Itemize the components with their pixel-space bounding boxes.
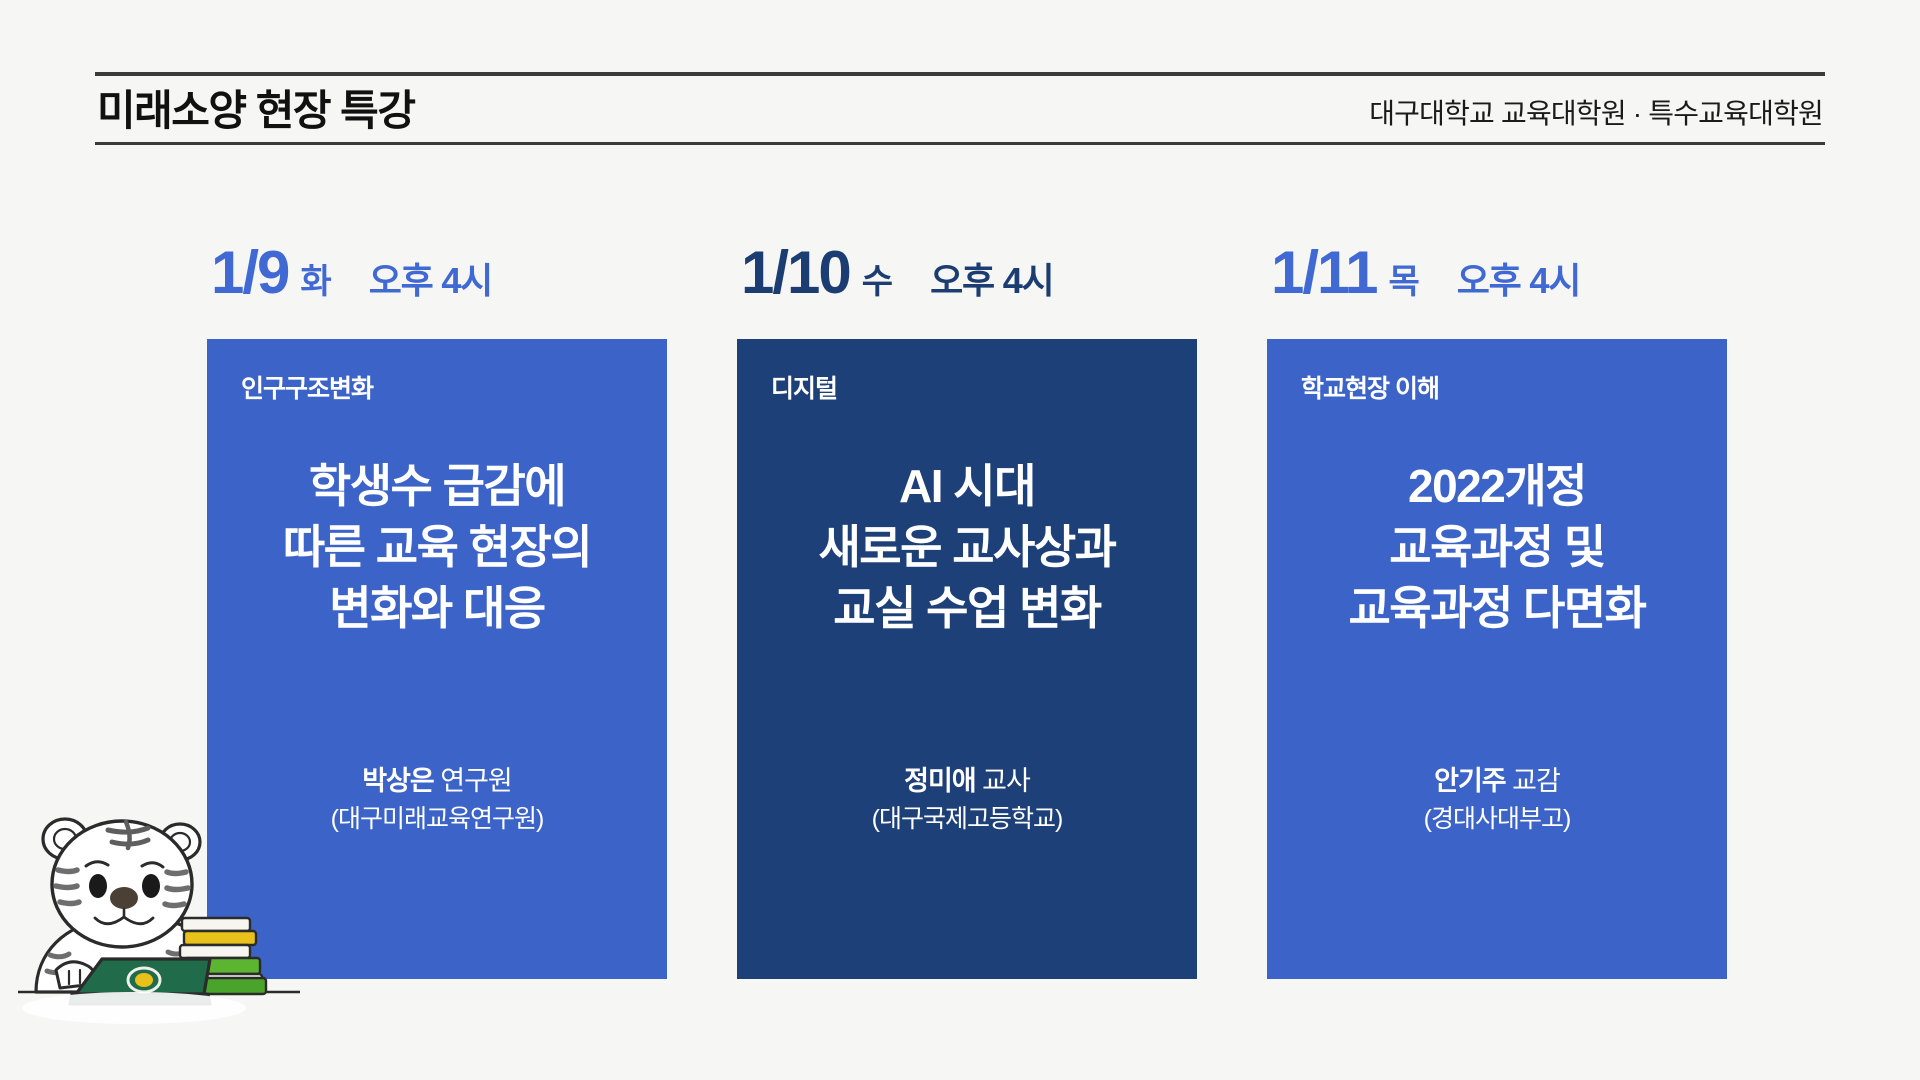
speaker-role-2: 교사 <box>982 766 1030 796</box>
session-tag-2: 디지털 <box>771 377 1171 402</box>
speaker-name-row-2: 정미애 교사 <box>763 763 1171 799</box>
white-tiger-mascot-illustration <box>14 792 304 1032</box>
session-date-row-3: 1/11 목 오후 4시 <box>1267 243 1727 339</box>
session-weekday-2: 수 <box>862 265 892 299</box>
speaker-affiliation-2: (대구국제고등학교) <box>763 803 1171 837</box>
session-date-3: 1/11 <box>1271 243 1376 303</box>
session-title-1: 학생수 급감에 따른 교육 현장의 변화와 대응 <box>233 456 641 640</box>
session-speaker-2: 정미애 교사 (대구국제고등학교) <box>763 763 1171 837</box>
organization-label: 대구대학교 교육대학원 · 특수교육대학원 <box>1369 100 1823 132</box>
session-weekday-1: 화 <box>300 265 330 299</box>
speaker-name-2: 정미애 <box>904 766 976 796</box>
session-card-2[interactable]: 디지털 AI 시대 새로운 교사상과 교실 수업 변화 정미애 교사 (대구국제… <box>737 339 1197 979</box>
session-time-2: 오후 4시 <box>930 263 1053 299</box>
session-date-row-1: 1/9 화 오후 4시 <box>207 243 667 339</box>
card-spacer-1 <box>233 640 641 763</box>
session-date-row-2: 1/10 수 오후 4시 <box>737 243 1197 339</box>
header-bottom-rule <box>95 142 1825 145</box>
header-row: 미래소양 현장 특강 대구대학교 교육대학원 · 특수교육대학원 <box>95 76 1825 142</box>
session-card-3[interactable]: 학교현장 이해 2022개정 교육과정 및 교육과정 다면화 안기주 교감 (경… <box>1267 339 1727 979</box>
poster-header: 미래소양 현장 특강 대구대학교 교육대학원 · 특수교육대학원 <box>95 72 1825 145</box>
session-title-3: 2022개정 교육과정 및 교육과정 다면화 <box>1293 456 1701 640</box>
session-weekday-3: 목 <box>1388 265 1418 299</box>
session-time-3: 오후 4시 <box>1457 263 1580 299</box>
session-date-2: 1/10 <box>741 243 850 303</box>
session-speaker-3: 안기주 교감 (경대사대부고) <box>1293 763 1701 837</box>
speaker-name-1: 박상은 <box>362 766 434 796</box>
session-title-2: AI 시대 새로운 교사상과 교실 수업 변화 <box>763 456 1171 640</box>
session-card-list: 1/9 화 오후 4시 인구구조변화 학생수 급감에 따른 교육 현장의 변화와… <box>207 243 1727 979</box>
session-tag-3: 학교현장 이해 <box>1301 377 1701 402</box>
session-time-1: 오후 4시 <box>369 263 492 299</box>
card-spacer-3 <box>1293 640 1701 763</box>
card-spacer-2 <box>763 640 1171 763</box>
speaker-name-row-3: 안기주 교감 <box>1293 763 1701 799</box>
speaker-name-3: 안기주 <box>1434 766 1506 796</box>
session-date-1: 1/9 <box>211 243 288 303</box>
speaker-affiliation-3: (경대사대부고) <box>1293 803 1701 837</box>
session-column-3: 1/11 목 오후 4시 학교현장 이해 2022개정 교육과정 및 교육과정 … <box>1267 243 1727 979</box>
page-title: 미래소양 현장 특강 <box>97 90 414 132</box>
session-column-2: 1/10 수 오후 4시 디지털 AI 시대 새로운 교사상과 교실 수업 변화… <box>737 243 1197 979</box>
speaker-role-1: 연구원 <box>440 766 512 796</box>
speaker-role-3: 교감 <box>1512 766 1560 796</box>
session-tag-1: 인구구조변화 <box>241 377 641 402</box>
